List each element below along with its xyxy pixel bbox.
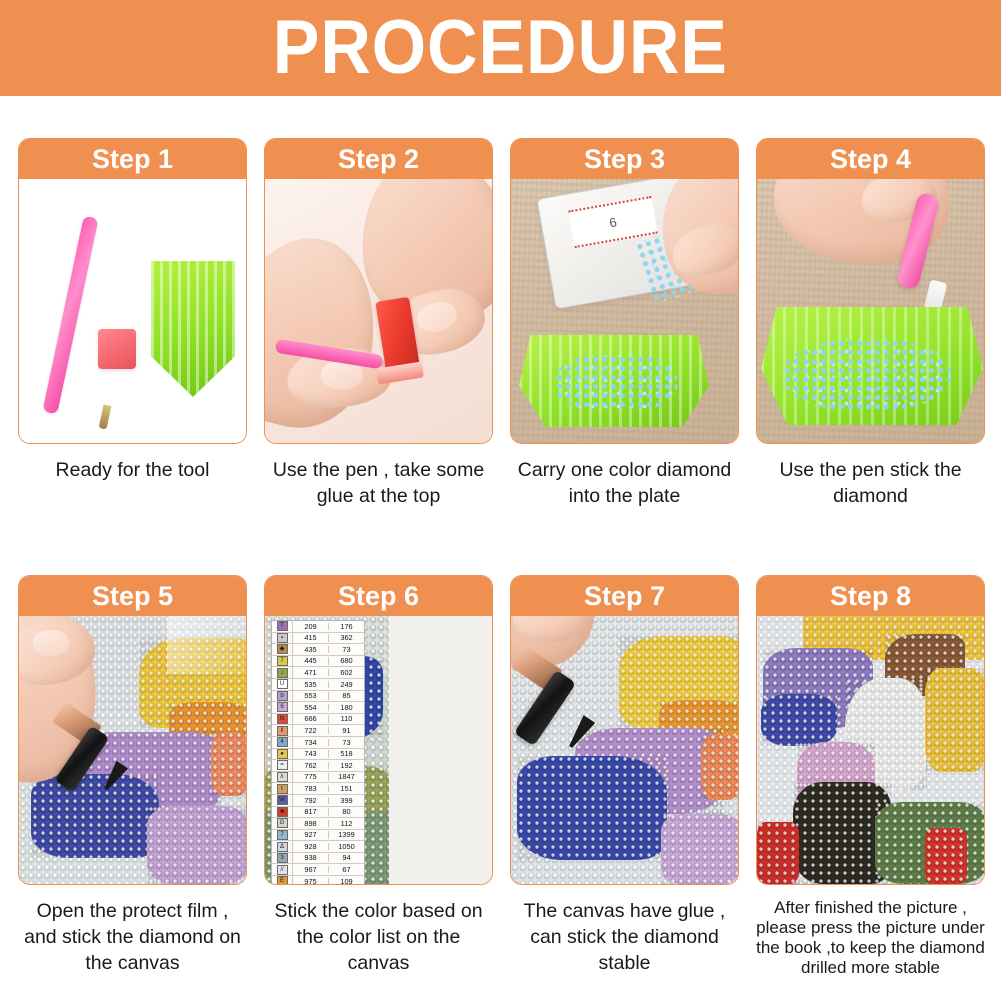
chart-color-code: 743 [293,750,329,757]
step-4-image [757,179,984,443]
chart-color-code: 535 [293,681,329,688]
color-swatch-icon: 4 [277,737,288,747]
color-swatch-icon: ▪ [277,633,288,643]
chart-row: 7445680 [272,656,364,668]
chart-symbol-cell: ■ [272,807,293,818]
step-card-2: Step 2 Use the pen , take some [264,138,493,510]
canvas-zone-lilac-7 [661,814,738,884]
chart-color-code: 734 [293,739,329,746]
chart-symbol-cell: = [272,760,293,771]
beads-in-tray-4 [783,339,951,411]
step-8-header: Step 8 [757,576,984,616]
steps-row-2: Step 5 [18,575,985,978]
chart-quantity: 399 [329,797,364,804]
canvas-zone-coral-7 [701,734,738,800]
chart-symbol-cell: G [272,818,293,829]
chart-color-code: 938 [293,854,329,861]
step-3-illustration: 6 [511,179,738,443]
color-swatch-icon: ♪ [277,668,288,678]
page-title: PROCEDURE [273,10,728,86]
color-swatch-icon: ● [277,749,288,759]
step-8-image [757,616,984,884]
chart-row: G898112 [272,818,364,830]
chart-row: ●743518 [272,749,364,761]
step-card-1: Step 1 Ready for the tool [18,138,247,510]
chart-quantity: 192 [329,762,364,769]
chart-quantity: 518 [329,750,364,757]
step-2-caption: Use the pen , take some glue at the top [264,458,493,510]
chart-symbol-cell: ♪ [272,667,293,678]
chart-color-code: 928 [293,843,329,850]
chart-symbol-cell: 4 [272,737,293,748]
chart-symbol-cell: 7 [272,656,293,667]
chart-quantity: 1050 [329,843,364,850]
chart-color-code: 927 [293,831,329,838]
chart-row: t783151 [272,783,364,795]
chart-row: 393894 [272,853,364,865]
protect-film-icon [167,616,246,674]
canvas-zone-red-right [925,828,967,884]
step-6-illustration: T209176▪415362◆435737445680♪471602U53524… [265,616,492,884]
chart-quantity: 680 [329,657,364,664]
color-swatch-icon: 3 [277,853,288,863]
chart-symbol-cell: 6 [272,702,293,713]
chart-color-code: 722 [293,727,329,734]
step-3-caption: Carry one color diamond into the plate [510,458,739,510]
color-swatch-icon: b [277,691,288,701]
color-swatch-icon: Δ [277,842,288,852]
page-banner: PROCEDURE [0,0,1001,96]
chart-row: E975109 [272,876,364,884]
chart-symbol-cell: /ı [272,772,293,783]
green-tray-icon [151,261,235,397]
chart-row: ♪471602 [272,667,364,679]
chart-symbol-cell: W [272,795,293,806]
chart-color-code: 975 [293,878,329,884]
step-7-card: Step 7 [510,575,739,885]
chart-symbol-cell: ▪ [272,633,293,644]
color-swatch-icon: 6 [277,702,288,712]
chart-quantity: 73 [329,739,364,746]
step-card-4: Step 4 Use the pen stick the diamond [756,138,985,510]
chart-quantity: 602 [329,669,364,676]
chart-symbol-cell: ● [272,749,293,760]
step-6-header: Step 6 [265,576,492,616]
step-card-5: Step 5 [18,575,247,978]
chart-quantity: 1399 [329,831,364,838]
chart-quantity: 91 [329,727,364,734]
chart-quantity: 362 [329,634,364,641]
step-4-card: Step 4 [756,138,985,444]
color-swatch-icon: U [277,679,288,689]
chart-symbol-cell: ◆ [272,644,293,655]
step-6-image: T209176▪415362◆435737445680♪471602U53524… [265,616,492,884]
step-card-3: Step 3 6 Carry one color diamond into th… [510,138,739,510]
canvas-zone-gold-right [925,668,984,772]
step-4-caption: Use the pen stick the diamond [756,458,985,510]
step-5-illustration [19,616,246,884]
chart-color-code: 775 [293,773,329,780]
chart-quantity: 176 [329,623,364,630]
chart-color-code: 792 [293,797,329,804]
step-5-caption: Open the protect film , and stick the di… [18,899,247,977]
chart-row: 6554180 [272,702,364,714]
chart-quantity: 180 [329,704,364,711]
color-swatch-icon: t [277,784,288,794]
step-7-header: Step 7 [511,576,738,616]
chart-row: 79271399 [272,830,364,842]
step-5-header: Step 5 [19,576,246,616]
step-8-illustration [757,616,984,884]
color-chart-table: T209176▪415362◆435737445680♪471602U53524… [271,620,365,884]
chart-symbol-cell: ‖ [272,725,293,736]
step-card-7: Step 7 [510,575,739,978]
canvas-zone-red-left [757,822,799,884]
wax-square-icon [98,329,136,369]
canvas-zone-blue-7 [517,756,667,860]
step-1-image [19,179,246,443]
chart-color-code: 471 [293,669,329,676]
color-swatch-icon: ■ [277,807,288,817]
chart-quantity: 110 [329,715,364,722]
step-6-card: Step 6 T209176▪415362◆435737445680♪47160… [264,575,493,885]
color-swatch-icon: /ı [277,772,288,782]
step-4-header: Step 4 [757,139,984,179]
chart-color-code: 666 [293,715,329,722]
step-3-image: 6 [511,179,738,443]
chart-color-code: 817 [293,808,329,815]
step-4-illustration [757,179,984,443]
chart-row: T209176 [272,621,364,633]
color-swatch-icon: E [277,876,288,884]
step-3-card: Step 3 6 [510,138,739,444]
procedure-infographic: PROCEDURE Step 1 Ready for the tool [0,0,1001,1001]
color-swatch-icon: // [277,865,288,875]
color-swatch-icon: 7 [277,830,288,840]
step-6-caption: Stick the color based on the color list … [264,899,493,977]
color-swatch-icon: N [277,714,288,724]
color-swatch-icon: G [277,818,288,828]
step-1-illustration [19,179,246,443]
step-card-8: Step 8 [756,575,985,978]
color-swatch-icon: ◆ [277,644,288,654]
chart-row: /ı7751847 [272,772,364,784]
chart-row: ▪415362 [272,633,364,645]
chart-quantity: 80 [329,808,364,815]
chart-quantity: 94 [329,854,364,861]
color-swatch-icon: 7 [277,656,288,666]
chart-symbol-cell: T [272,621,293,632]
canvas-zone-indigo [761,694,837,746]
chart-quantity: 85 [329,692,364,699]
chart-row: Δ9281050 [272,841,364,853]
chart-quantity: 1847 [329,773,364,780]
chart-symbol-cell: N [272,714,293,725]
chart-quantity: 67 [329,866,364,873]
step-1-card: Step 1 [18,138,247,444]
step-7-caption: The canvas have glue , can stick the dia… [510,899,739,977]
nail-icon-5 [33,630,69,656]
step-5-image [19,616,246,884]
step-2-header: Step 2 [265,139,492,179]
chart-row: =762192 [272,760,364,772]
step-7-image [511,616,738,884]
steps-row-1: Step 1 Ready for the tool Step 2 [18,138,985,510]
chart-quantity: 151 [329,785,364,792]
chart-row: //96767 [272,864,364,876]
step-1-header: Step 1 [19,139,246,179]
chart-color-code: 553 [293,692,329,699]
pink-pen-icon [42,216,98,415]
step-8-caption: After finished the picture , please pres… [756,898,985,978]
color-swatch-icon: = [277,760,288,770]
chart-row: 473473 [272,737,364,749]
step-5-card: Step 5 [18,575,247,885]
chart-color-code: 783 [293,785,329,792]
step-2-image [265,179,492,443]
chart-quantity: 249 [329,681,364,688]
step-card-6: Step 6 T209176▪415362◆435737445680♪47160… [264,575,493,978]
color-swatch-icon: T [277,621,288,631]
step-1-caption: Ready for the tool [18,458,247,484]
chart-symbol-cell: E [272,876,293,884]
chart-row: ‖72291 [272,725,364,737]
chart-symbol-cell: t [272,783,293,794]
chart-symbol-cell: 3 [272,853,293,864]
step-2-card: Step 2 [264,138,493,444]
chart-symbol-cell: U [272,679,293,690]
step-7-illustration [511,616,738,884]
chart-color-code: 435 [293,646,329,653]
chart-color-code: 898 [293,820,329,827]
chart-color-code: 762 [293,762,329,769]
chart-quantity: 73 [329,646,364,653]
chart-quantity: 112 [329,820,364,827]
chart-quantity: 109 [329,878,364,884]
canvas-zone-blue [31,774,159,858]
chart-row: N666110 [272,714,364,726]
chart-color-code: 967 [293,866,329,873]
chart-symbol-cell: b [272,691,293,702]
pen-tip-icon [99,404,112,429]
chart-row: b55385 [272,691,364,703]
chart-symbol-cell: // [272,864,293,875]
chart-color-code: 209 [293,623,329,630]
color-swatch-icon: W [277,795,288,805]
chart-row: ◆43573 [272,644,364,656]
chart-color-code: 445 [293,657,329,664]
step-8-card: Step 8 [756,575,985,885]
step-2-illustration [265,179,492,443]
chart-row: W792399 [272,795,364,807]
chart-color-code: 415 [293,634,329,641]
chart-color-code: 554 [293,704,329,711]
chart-symbol-cell: 7 [272,830,293,841]
canvas-zone-lilac [147,806,246,884]
chart-row: ■81780 [272,807,364,819]
canvas-zone-coral [211,732,246,796]
beads-in-tray [555,355,677,411]
chart-row: U535249 [272,679,364,691]
step-3-header: Step 3 [511,139,738,179]
color-swatch-icon: ‖ [277,726,288,736]
chart-symbol-cell: Δ [272,841,293,852]
